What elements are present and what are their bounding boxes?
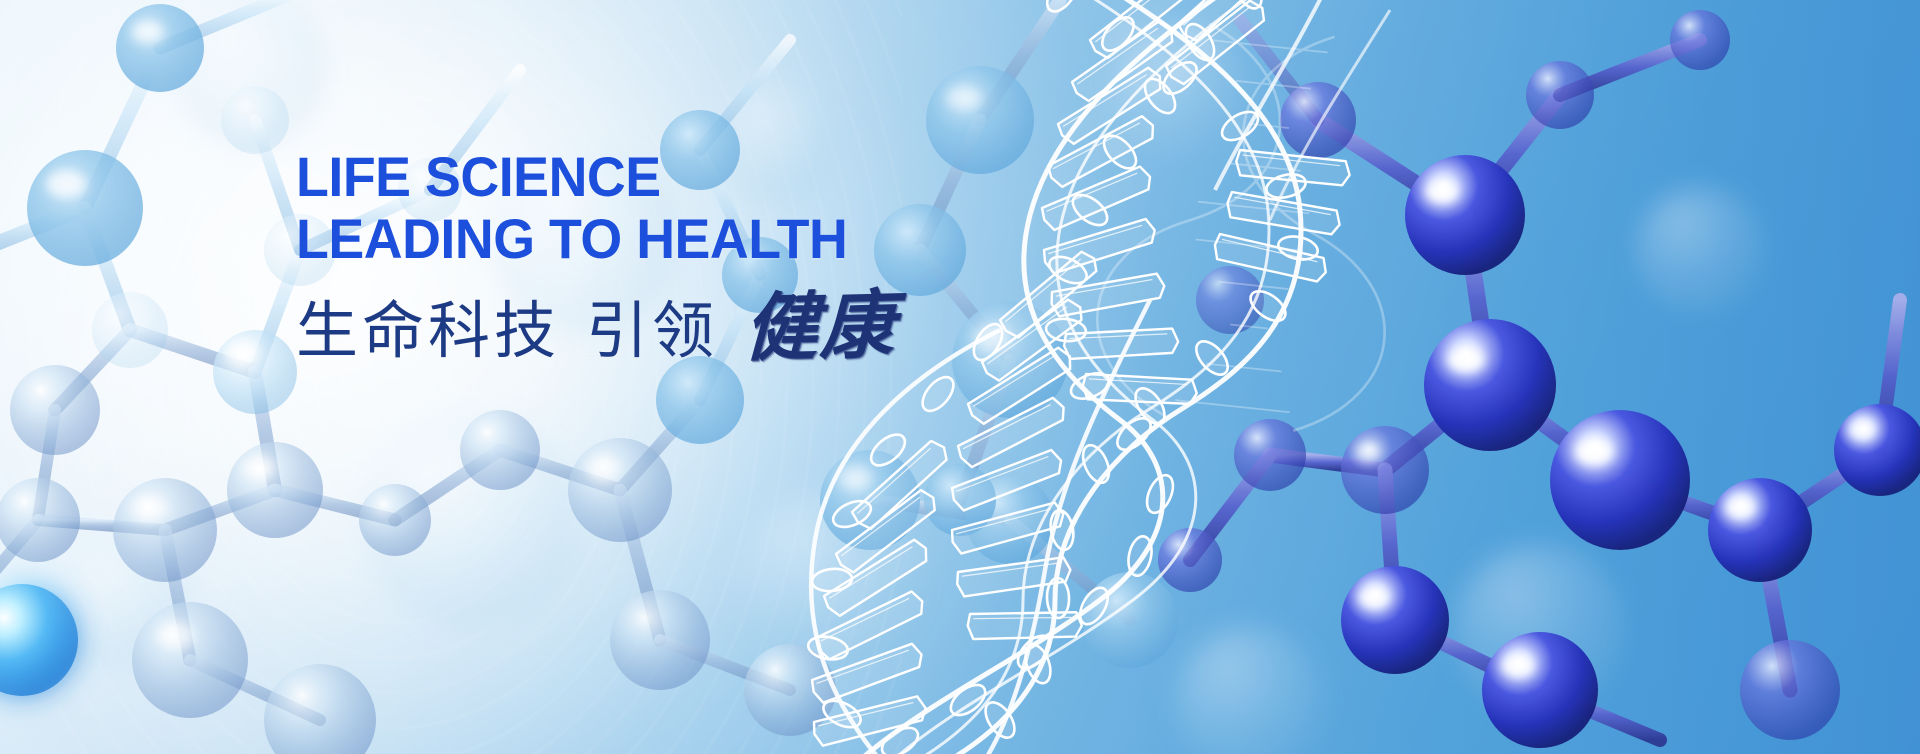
dna-double-helix bbox=[0, 0, 1920, 754]
headline-line-2: LEADING TO HEALTH bbox=[296, 208, 910, 270]
dna-backbone-links bbox=[806, 0, 1319, 754]
subheadline-part-3-calligraphy: 健康 bbox=[743, 288, 897, 366]
subheadline-part-1: 生命科技 bbox=[296, 295, 560, 369]
banner-root: LIFE SCIENCE LEADING TO HEALTH 生命科技 引领 健… bbox=[0, 0, 1920, 754]
subheadline-part-2: 引领 bbox=[586, 295, 718, 369]
headline-line-1: LIFE SCIENCE bbox=[296, 146, 910, 208]
headline-text-block: LIFE SCIENCE LEADING TO HEALTH 生命科技 引领 健… bbox=[296, 146, 936, 369]
subheadline-chinese: 生命科技 引领 健康 bbox=[296, 290, 936, 369]
